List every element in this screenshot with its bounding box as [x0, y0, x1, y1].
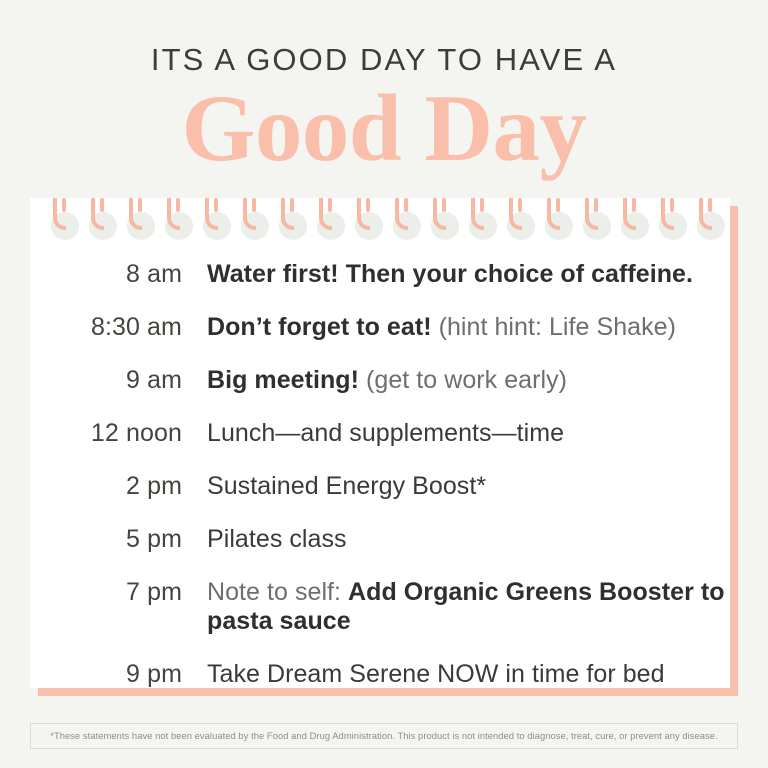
task-segment: Don’t forget to eat!: [207, 313, 439, 341]
spiral-ring-icon: [655, 198, 693, 250]
spiral-ring-icon: [47, 198, 85, 250]
schedule-row-task: Pilates class: [182, 525, 730, 554]
schedule-row-time: 9 am: [30, 366, 182, 395]
schedule-row: 8:30 amDon’t forget to eat! (hint hint: …: [30, 313, 730, 342]
spiral-binding: [30, 198, 730, 254]
task-segment: Sustained Energy Boost*: [207, 472, 486, 500]
ring-hook-stem-icon: [708, 198, 712, 212]
spiral-ring-icon: [427, 198, 465, 250]
spiral-ring-icon: [351, 198, 389, 250]
ring-hook-stem-icon: [252, 198, 256, 212]
ring-hook-stem-icon: [100, 198, 104, 212]
ring-hook-stem-icon: [290, 198, 294, 212]
notepad-card: 8 amWater first! Then your choice of caf…: [30, 198, 730, 688]
ring-hook-stem-icon: [62, 198, 66, 212]
task-segment: Note to self:: [207, 578, 348, 606]
task-segment: Take Dream Serene NOW in time for bed: [207, 660, 665, 688]
schedule-row-time: 8 am: [30, 260, 182, 289]
task-segment: Pilates class: [207, 525, 347, 553]
ring-hook-stem-icon: [404, 198, 408, 212]
schedule-row-time: 9 pm: [30, 660, 182, 688]
spiral-ring-icon: [237, 198, 275, 250]
spiral-ring-icon: [579, 198, 617, 250]
task-segment: Water first! Then your choice of caffein…: [207, 260, 693, 288]
card-surface: 8 amWater first! Then your choice of caf…: [30, 198, 730, 688]
spiral-ring-icon: [123, 198, 161, 250]
task-segment: (get to work early): [366, 366, 567, 394]
ring-hook-stem-icon: [670, 198, 674, 212]
disclaimer-text: *These statements have not been evaluate…: [30, 723, 738, 749]
schedule-row-time: 12 noon: [30, 419, 182, 448]
spiral-ring-icon: [199, 198, 237, 250]
schedule-row-task: Don’t forget to eat! (hint hint: Life Sh…: [182, 313, 730, 342]
spiral-ring-icon: [465, 198, 503, 250]
schedule-row: 2 pmSustained Energy Boost*: [30, 472, 730, 501]
ring-hook-stem-icon: [138, 198, 142, 212]
schedule-row-time: 5 pm: [30, 525, 182, 554]
ring-hook-stem-icon: [328, 198, 332, 212]
ring-hook-stem-icon: [366, 198, 370, 212]
schedule-row-task: Sustained Energy Boost*: [182, 472, 730, 501]
ring-hook-stem-icon: [556, 198, 560, 212]
schedule-row-task: Water first! Then your choice of caffein…: [182, 260, 730, 289]
schedule-row-time: 2 pm: [30, 472, 182, 501]
schedule-row: 7 pmNote to self: Add Organic Greens Boo…: [30, 578, 730, 636]
spiral-ring-icon: [313, 198, 351, 250]
schedule-row-time: 7 pm: [30, 578, 182, 607]
schedule-row-task: Lunch—and supplements—time: [182, 419, 730, 448]
spiral-ring-icon: [389, 198, 427, 250]
schedule-row-time: 8:30 am: [30, 313, 182, 342]
schedule-row: 5 pmPilates class: [30, 525, 730, 554]
schedule-row: 9 amBig meeting! (get to work early): [30, 366, 730, 395]
spiral-ring-icon: [161, 198, 199, 250]
spiral-ring-icon: [693, 198, 730, 250]
headline-script: Good Day: [0, 75, 768, 176]
schedule-list: 8 amWater first! Then your choice of caf…: [30, 260, 730, 688]
ring-hook-stem-icon: [442, 198, 446, 212]
schedule-row-task: Big meeting! (get to work early): [182, 366, 730, 395]
spiral-ring-icon: [275, 198, 313, 250]
page-heading: ITS A GOOD DAY TO HAVE A Good Day: [0, 0, 768, 176]
headline-primary: ITS A GOOD DAY TO HAVE A: [0, 0, 768, 75]
spiral-ring-icon: [503, 198, 541, 250]
spiral-ring-icon: [85, 198, 123, 250]
spiral-ring-icon: [541, 198, 579, 250]
schedule-row: 8 amWater first! Then your choice of caf…: [30, 260, 730, 289]
schedule-row-task: Take Dream Serene NOW in time for bed: [182, 660, 730, 688]
ring-hook-stem-icon: [518, 198, 522, 212]
spiral-ring-icon: [617, 198, 655, 250]
ring-hook-stem-icon: [176, 198, 180, 212]
ring-hook-stem-icon: [632, 198, 636, 212]
task-segment: Big meeting!: [207, 366, 366, 394]
schedule-row-task: Note to self: Add Organic Greens Booster…: [182, 578, 730, 636]
task-segment: Lunch—and supplements—time: [207, 419, 564, 447]
ring-hook-stem-icon: [480, 198, 484, 212]
ring-hook-stem-icon: [214, 198, 218, 212]
ring-hook-stem-icon: [594, 198, 598, 212]
task-segment: (hint hint: Life Shake): [439, 313, 676, 341]
schedule-row: 9 pmTake Dream Serene NOW in time for be…: [30, 660, 730, 688]
schedule-row: 12 noonLunch—and supplements—time: [30, 419, 730, 448]
